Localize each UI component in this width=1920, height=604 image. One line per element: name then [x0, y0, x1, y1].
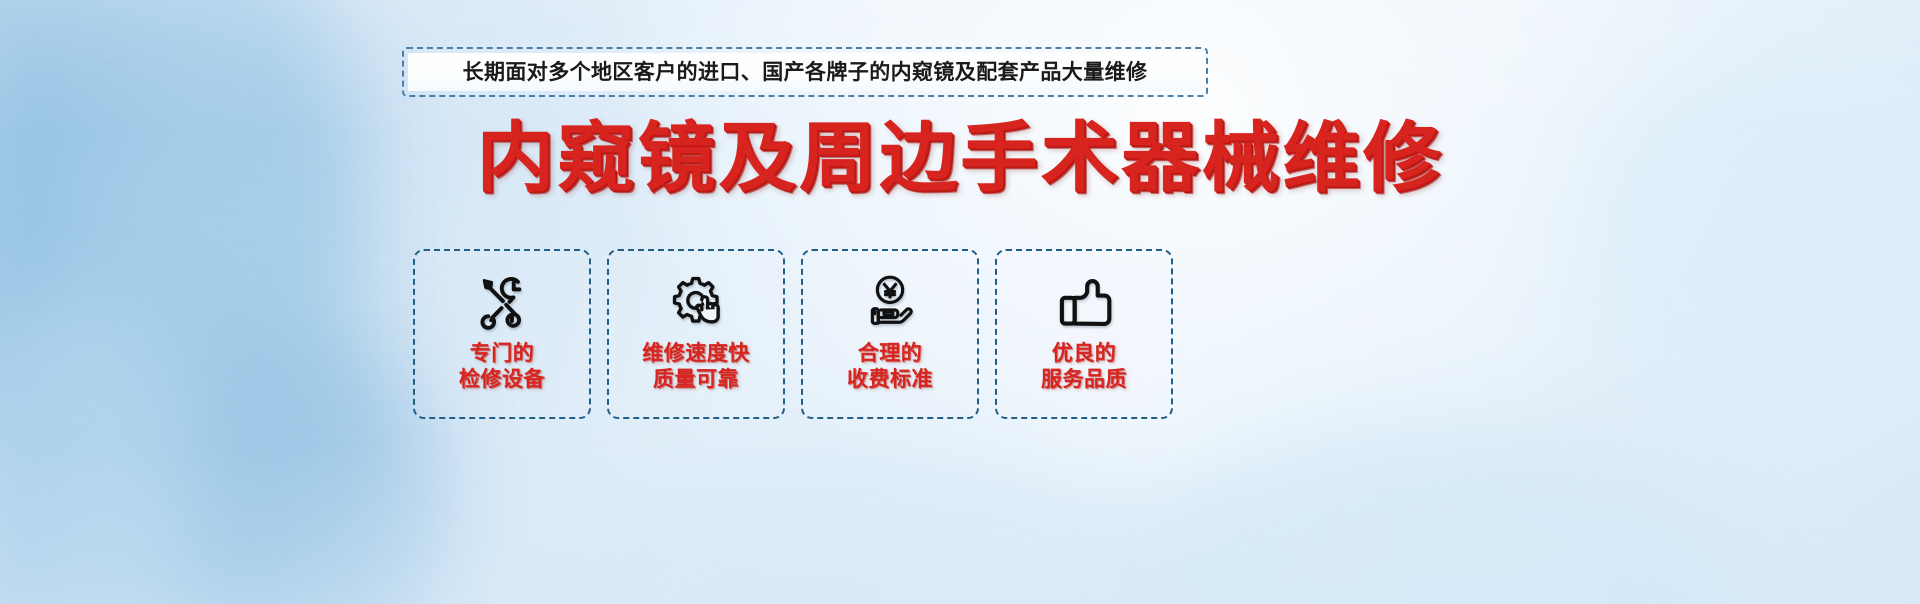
subtitle-banner-inner: 长期面对多个地区客户的进口、国产各牌子的内窥镜及配套产品大量维修 [408, 53, 1202, 91]
feature-label-line-2: 检修设备 [459, 367, 545, 393]
feature-label-line-1: 维修速度快 [642, 341, 750, 365]
feature-label-line-1: 优良的 [1052, 341, 1117, 365]
gear-hand-click-icon [663, 269, 729, 335]
feature-card-label: 维修速度快 质量可靠 [642, 341, 750, 392]
subtitle-banner: 长期面对多个地区客户的进口、国产各牌子的内窥镜及配套产品大量维修 [402, 47, 1208, 97]
feature-card-label: 合理的 收费标准 [847, 341, 933, 392]
feature-card-label: 专门的 检修设备 [459, 341, 545, 392]
thumbs-up-icon [1051, 269, 1117, 335]
feature-card-service[interactable]: 优良的 服务品质 [995, 249, 1173, 419]
feature-label-line-1: 专门的 [470, 341, 535, 365]
feature-label-line-2: 服务品质 [1041, 367, 1127, 393]
feature-card-equipment[interactable]: 专门的 检修设备 [413, 249, 591, 419]
feature-card-pricing[interactable]: 合理的 收费标准 [801, 249, 979, 419]
banner-content: 长期面对多个地区客户的进口、国产各牌子的内窥镜及配套产品大量维修 内窥镜及周边手… [0, 0, 1920, 604]
feature-label-line-2: 收费标准 [847, 367, 933, 393]
page-title: 内窥镜及周边手术器械维修 [0, 118, 1920, 197]
feature-card-label: 优良的 服务品质 [1041, 341, 1127, 392]
feature-label-line-1: 合理的 [858, 341, 923, 365]
tools-screwdriver-wrench-icon [469, 269, 535, 335]
subtitle-text: 长期面对多个地区客户的进口、国产各牌子的内窥镜及配套产品大量维修 [463, 62, 1148, 83]
feature-card-speed-quality[interactable]: 维修速度快 质量可靠 [607, 249, 785, 419]
banner-stage: 长期面对多个地区客户的进口、国产各牌子的内窥镜及配套产品大量维修 内窥镜及周边手… [0, 0, 1920, 604]
feature-card-list: 专门的 检修设备 [413, 249, 1173, 419]
hand-holding-yuan-coin-icon [857, 269, 923, 335]
page-title-text: 内窥镜及周边手术器械维修 [477, 118, 1444, 197]
feature-label-line-2: 质量可靠 [642, 367, 750, 393]
